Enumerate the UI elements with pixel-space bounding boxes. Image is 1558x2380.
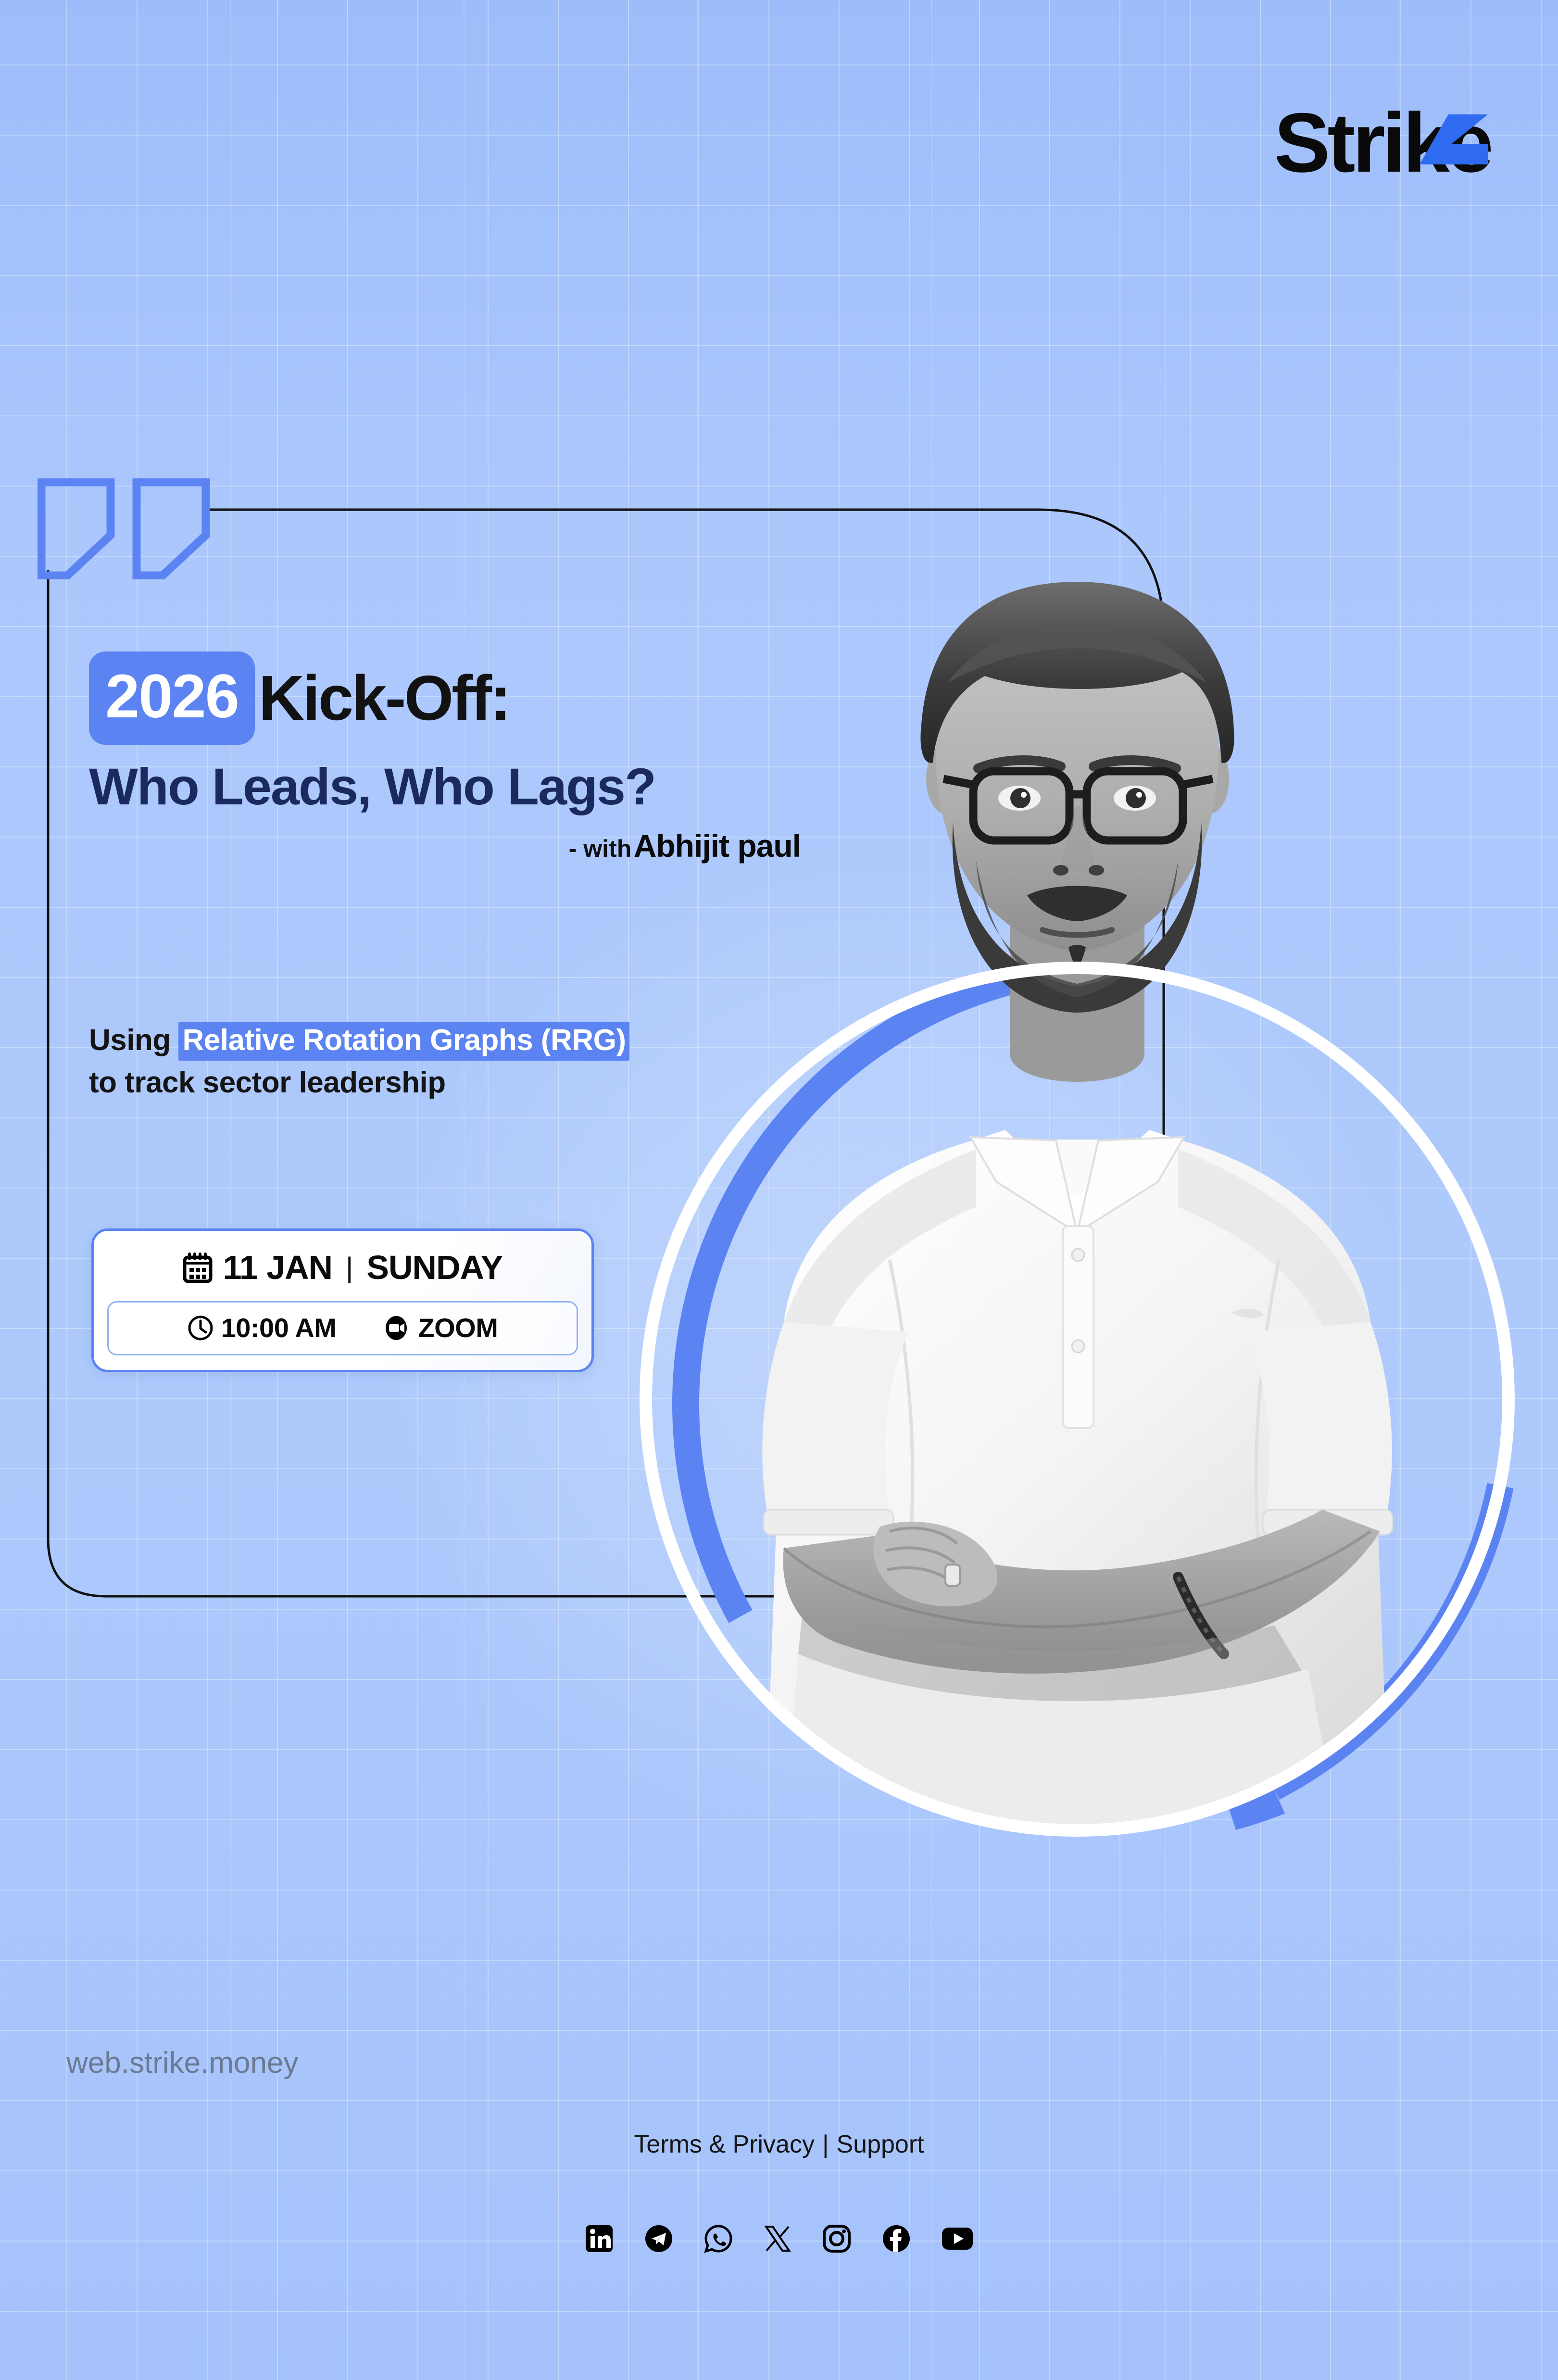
x-twitter-icon[interactable] (763, 2224, 792, 2253)
instagram-icon[interactable] (822, 2224, 852, 2254)
headline-kickoff: Kick-Off: (259, 666, 509, 730)
event-platform: ZOOM (418, 1312, 498, 1343)
description-prefix: Using (89, 1024, 171, 1057)
support-link[interactable]: Support (836, 2130, 924, 2159)
event-details-card[interactable]: 11 JAN | SUNDAY 10:00 AM ZOOM (91, 1228, 594, 1372)
facebook-icon[interactable] (881, 2224, 911, 2254)
event-day: SUNDAY (366, 1248, 503, 1287)
speaker-photo (640, 572, 1515, 1841)
whatsapp-icon[interactable] (704, 2224, 733, 2254)
website-url[interactable]: web.strike.money (66, 2046, 298, 2080)
youtube-icon[interactable] (941, 2227, 974, 2251)
event-date-separator: | (346, 1252, 353, 1284)
telegram-icon[interactable] (644, 2224, 674, 2254)
footer-divider: | (822, 2130, 829, 2159)
event-time-platform-pill: 10:00 AM ZOOM (107, 1301, 578, 1355)
event-date: 11 JAN (223, 1248, 332, 1287)
description-highlight: Relative Rotation Graphs (RRG) (178, 1022, 629, 1061)
social-links (0, 2224, 1558, 2254)
blue-chevron-arrow-icon (1392, 114, 1488, 175)
linkedin-icon[interactable] (584, 2224, 614, 2254)
clock-icon (188, 1315, 214, 1341)
calendar-icon (183, 1252, 213, 1283)
footer-links: Terms & Privacy|Support (0, 2130, 1558, 2159)
event-platform-item: ZOOM (382, 1312, 498, 1343)
event-date-row: 11 JAN | SUNDAY (94, 1248, 591, 1287)
speaker-prefix: - with (569, 835, 632, 862)
year-badge: 2026 (89, 651, 255, 745)
double-quote-icon (38, 478, 220, 579)
event-time-item: 10:00 AM (188, 1312, 337, 1343)
terms-privacy-link[interactable]: Terms & Privacy (634, 2130, 815, 2159)
webinar-poster: Strike (0, 0, 1558, 2380)
strike-logo[interactable]: Strike (1274, 101, 1491, 185)
video-camera-icon (382, 1315, 410, 1340)
event-time: 10:00 AM (221, 1312, 337, 1343)
